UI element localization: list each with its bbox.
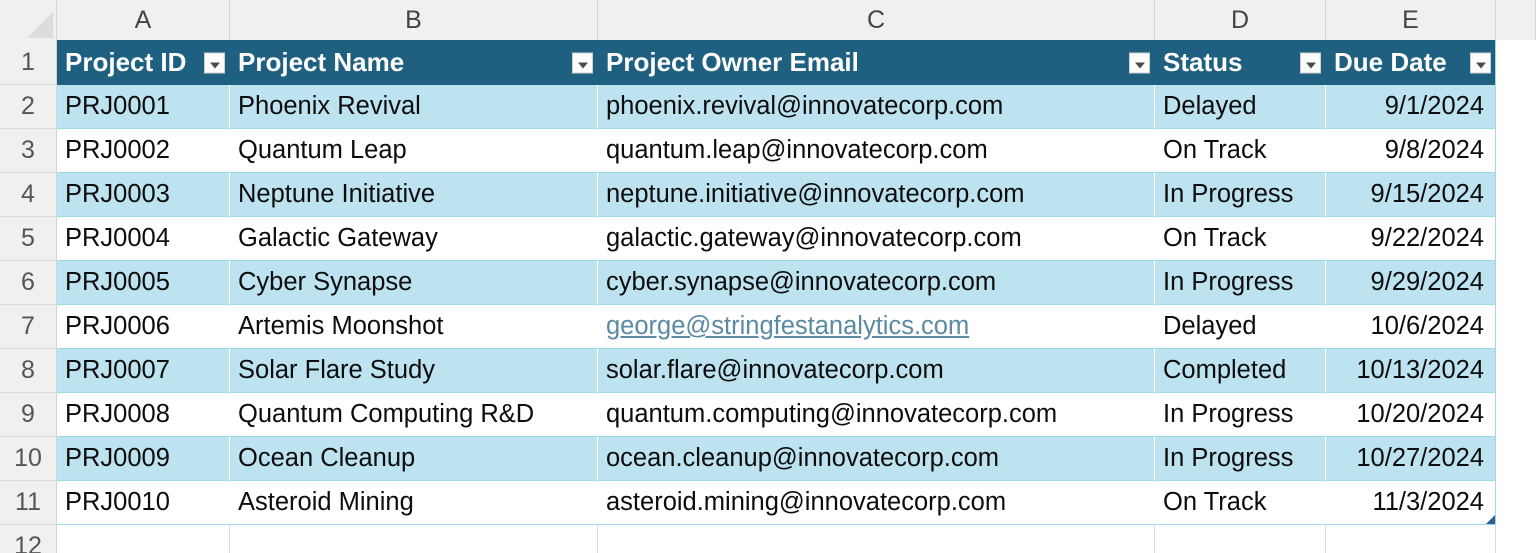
chevron-down-icon [578,62,588,68]
cell-project-name[interactable]: Neptune Initiative [230,173,598,217]
cell-project-id[interactable]: PRJ0008 [57,393,230,437]
chevron-down-icon [1306,62,1316,68]
table-row: PRJ0007Solar Flare Studysolar.flare@inno… [57,349,1536,393]
row-header-12[interactable]: 12 [0,525,57,553]
empty-row [57,525,1536,553]
cell-project-id[interactable]: PRJ0004 [57,217,230,261]
cell-status[interactable]: On Track [1155,217,1326,261]
table-row: PRJ0005Cyber Synapsecyber.synapse@innova… [57,261,1536,305]
cell-project-name[interactable]: Solar Flare Study [230,349,598,393]
row-number-gutter: 123456789101112 [0,40,57,553]
column-header-d[interactable]: D [1155,0,1326,40]
row-header-11[interactable]: 11 [0,481,57,525]
cell-project-id[interactable]: PRJ0006 [57,305,230,349]
cell-project-name[interactable]: Phoenix Revival [230,85,598,129]
cell-project-name[interactable]: Ocean Cleanup [230,437,598,481]
cell-empty[interactable] [598,525,1155,553]
cell-empty[interactable] [1155,525,1326,553]
table-header-row: Project IDProject NameProject Owner Emai… [57,40,1536,85]
cell-status[interactable]: Delayed [1155,85,1326,129]
table-row: PRJ0003Neptune Initiativeneptune.initiat… [57,173,1536,217]
row-header-7[interactable]: 7 [0,305,57,349]
column-header-a[interactable]: A [57,0,230,40]
cell-status[interactable]: In Progress [1155,261,1326,305]
cell-due-date[interactable]: 10/13/2024 [1326,349,1496,393]
column-header-strip: ABCDE [0,0,1536,40]
cell-project-id[interactable]: PRJ0009 [57,437,230,481]
row-header-3[interactable]: 3 [0,129,57,173]
column-title-status: Status [1155,40,1326,85]
column-title-project-id: Project ID [57,40,230,85]
cell-status[interactable]: In Progress [1155,393,1326,437]
cell-project-id[interactable]: PRJ0003 [57,173,230,217]
cell-project-id[interactable]: PRJ0010 [57,481,230,525]
header-label: Project ID [65,47,186,78]
column-title-project-owner-email: Project Owner Email [598,40,1155,85]
chevron-down-icon [1135,62,1145,68]
table-row: PRJ0002Quantum Leapquantum.leap@innovate… [57,129,1536,173]
cell-status[interactable]: In Progress [1155,437,1326,481]
table-row: PRJ0010Asteroid Miningasteroid.mining@in… [57,481,1536,525]
table-row: PRJ0001Phoenix Revivalphoenix.revival@in… [57,85,1536,129]
cell-due-date[interactable]: 10/20/2024 [1326,393,1496,437]
cell-status[interactable]: On Track [1155,481,1326,525]
header-label: Project Owner Email [606,47,859,78]
filter-dropdown-icon[interactable] [1470,52,1491,73]
column-header-b[interactable]: B [230,0,598,40]
row-header-1[interactable]: 1 [0,40,57,85]
cell-project-name[interactable]: Galactic Gateway [230,217,598,261]
cell-email[interactable]: quantum.leap@innovatecorp.com [598,129,1155,173]
chevron-down-icon [1476,62,1486,68]
cell-email[interactable]: phoenix.revival@innovatecorp.com [598,85,1155,129]
table-resize-handle[interactable] [1486,515,1495,524]
filter-dropdown-icon[interactable] [204,52,225,73]
cell-empty[interactable] [57,525,230,553]
column-title-due-date: Due Date [1326,40,1496,85]
cell-due-date[interactable]: 9/8/2024 [1326,129,1496,173]
cell-status[interactable]: Delayed [1155,305,1326,349]
cell-email[interactable]: solar.flare@innovatecorp.com [598,349,1155,393]
cell-due-date[interactable]: 9/1/2024 [1326,85,1496,129]
cell-email[interactable]: neptune.initiative@innovatecorp.com [598,173,1155,217]
cell-project-name[interactable]: Quantum Computing R&D [230,393,598,437]
column-header-e[interactable]: E [1326,0,1496,40]
cell-project-id[interactable]: PRJ0001 [57,85,230,129]
column-header-filler [1496,0,1536,40]
cell-project-name[interactable]: Cyber Synapse [230,261,598,305]
cell-status[interactable]: Completed [1155,349,1326,393]
header-label: Status [1163,47,1242,78]
table-row: PRJ0008Quantum Computing R&Dquantum.comp… [57,393,1536,437]
select-all-triangle-icon [27,12,53,38]
cell-project-name[interactable]: Artemis Moonshot [230,305,598,349]
cell-email[interactable]: george@stringfestanalytics.com [598,305,1155,349]
column-header-c[interactable]: C [598,0,1155,40]
table-row: PRJ0004Galactic Gatewaygalactic.gateway@… [57,217,1536,261]
chevron-down-icon [210,62,220,68]
table-row: PRJ0009Ocean Cleanupocean.cleanup@innova… [57,437,1536,481]
spreadsheet-canvas: ABCDE 123456789101112 Project IDProject … [0,0,1536,553]
cell-empty[interactable] [230,525,598,553]
cell-email[interactable]: ocean.cleanup@innovatecorp.com [598,437,1155,481]
cell-due-date[interactable]: 10/27/2024 [1326,437,1496,481]
cell-project-id[interactable]: PRJ0007 [57,349,230,393]
row-header-4[interactable]: 4 [0,173,57,217]
cell-due-date[interactable]: 9/15/2024 [1326,173,1496,217]
cell-project-name[interactable]: Asteroid Mining [230,481,598,525]
header-label: Project Name [238,47,404,78]
filter-dropdown-icon[interactable] [1300,52,1321,73]
cell-status[interactable]: On Track [1155,129,1326,173]
cell-project-id[interactable]: PRJ0002 [57,129,230,173]
header-label: Due Date [1334,47,1447,78]
row-header-10[interactable]: 10 [0,437,57,481]
cell-due-date[interactable]: 10/6/2024 [1326,305,1496,349]
select-all-button[interactable] [0,0,57,40]
filter-dropdown-icon[interactable] [1129,52,1150,73]
row-header-9[interactable]: 9 [0,393,57,437]
row-header-6[interactable]: 6 [0,261,57,305]
cell-due-date[interactable]: 11/3/2024 [1326,481,1496,525]
cell-email[interactable]: quantum.computing@innovatecorp.com [598,393,1155,437]
row-header-2[interactable]: 2 [0,85,57,129]
cell-empty[interactable] [1326,525,1496,553]
cell-project-id[interactable]: PRJ0005 [57,261,230,305]
row-header-5[interactable]: 5 [0,217,57,261]
cell-email[interactable]: asteroid.mining@innovatecorp.com [598,481,1155,525]
email-hyperlink[interactable]: george@stringfestanalytics.com [606,312,969,341]
cell-status[interactable]: In Progress [1155,173,1326,217]
table-row: PRJ0006Artemis Moonshotgeorge@stringfest… [57,305,1536,349]
table-right-border [1495,40,1496,525]
cell-email[interactable]: galactic.gateway@innovatecorp.com [598,217,1155,261]
data-grid: Project IDProject NameProject Owner Emai… [57,40,1536,553]
cell-email[interactable]: cyber.synapse@innovatecorp.com [598,261,1155,305]
column-title-project-name: Project Name [230,40,598,85]
cell-due-date[interactable]: 9/22/2024 [1326,217,1496,261]
cell-project-name[interactable]: Quantum Leap [230,129,598,173]
cell-due-date[interactable]: 9/29/2024 [1326,261,1496,305]
filter-dropdown-icon[interactable] [572,52,593,73]
row-header-8[interactable]: 8 [0,349,57,393]
